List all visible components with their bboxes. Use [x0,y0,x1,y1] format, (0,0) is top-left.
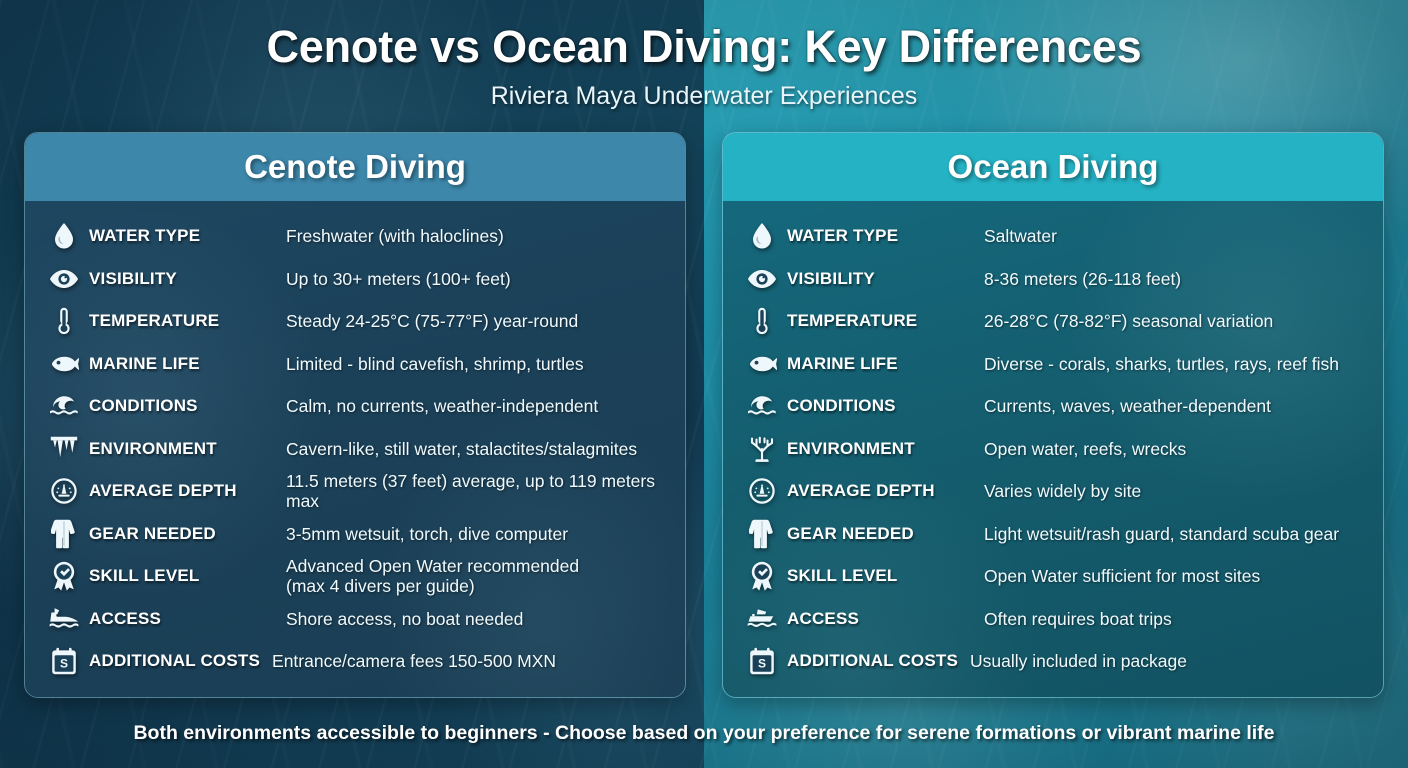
eye-icon [43,269,85,289]
table-row: MARINE LIFEDiverse - corals, sharks, tur… [723,343,1383,386]
svg-text:S: S [758,657,766,671]
row-value: Open water, reefs, wrecks [972,439,1186,459]
row-value: Light wetsuit/rash guard, standard scuba… [972,524,1339,544]
row-value: Calm, no currents, weather-independent [274,396,598,416]
row-value: Steady 24-25°C (75-77°F) year-round [274,311,578,331]
shore-icon [43,607,85,631]
row-value: Diverse - corals, sharks, turtles, rays,… [972,354,1339,374]
table-row: ACCESSShore access, no boat needed [25,598,685,641]
row-value: Entrance/camera fees 150-500 MXN [260,651,556,671]
row-value: Currents, waves, weather-dependent [972,396,1271,416]
stalactite-icon [43,436,85,462]
table-row: SADDITIONAL COSTSEntrance/camera fees 15… [25,640,685,683]
row-label: CONDITIONS [85,396,274,416]
comparison-panels: Cenote Diving WATER TYPEFreshwater (with… [0,132,1408,698]
page-header: Cenote vs Ocean Diving: Key Differences … [0,0,1408,111]
row-value: Usually included in package [958,651,1187,671]
table-row: TEMPERATURESteady 24-25°C (75-77°F) year… [25,300,685,343]
row-label: ENVIRONMENT [85,439,274,459]
row-value: Often requires boat trips [972,609,1172,629]
panel-ocean-rows: WATER TYPESaltwaterVISIBILITY8-36 meters… [723,201,1383,697]
row-label: SKILL LEVEL [783,566,972,586]
fish-icon [741,355,783,373]
wave-icon [43,395,85,417]
table-row: SADDITIONAL COSTSUsually included in pac… [723,640,1383,683]
panel-cenote-rows: WATER TYPEFreshwater (with haloclines)VI… [25,201,685,697]
row-label: CONDITIONS [783,396,972,416]
page-title: Cenote vs Ocean Diving: Key Differences [0,0,1408,73]
table-row: MARINE LIFELimited - blind cavefish, shr… [25,343,685,386]
depth-gauge-icon [43,478,85,504]
panel-cenote-diving: Cenote Diving WATER TYPEFreshwater (with… [24,132,686,698]
row-label: SKILL LEVEL [85,566,274,586]
panel-cenote-header: Cenote Diving [25,133,685,201]
row-value: Advanced Open Water recommended (max 4 d… [274,556,579,596]
table-row: GEAR NEEDEDLight wetsuit/rash guard, sta… [723,513,1383,556]
award-check-icon [43,561,85,591]
table-row: WATER TYPESaltwater [723,215,1383,258]
table-row: GEAR NEEDED3-5mm wetsuit, torch, dive co… [25,513,685,556]
row-value: Shore access, no boat needed [274,609,523,629]
panel-ocean-diving: Ocean Diving WATER TYPESaltwaterVISIBILI… [722,132,1384,698]
water-drop-icon [741,223,783,249]
infographic-root: Cenote vs Ocean Diving: Key Differences … [0,0,1408,768]
panel-ocean-title: Ocean Diving [948,148,1159,186]
boat-icon [741,608,783,630]
wetsuit-icon [741,519,783,549]
row-value: Varies widely by site [972,481,1141,501]
table-row: VISIBILITY8-36 meters (26-118 feet) [723,258,1383,301]
table-row: ENVIRONMENTOpen water, reefs, wrecks [723,428,1383,471]
row-value: 26-28°C (78-82°F) seasonal variation [972,311,1273,331]
table-row: ENVIRONMENTCavern-like, still water, sta… [25,428,685,471]
table-row: ACCESSOften requires boat trips [723,598,1383,641]
money-calendar-icon: S [43,647,85,675]
row-label: ADDITIONAL COSTS [783,651,958,671]
panel-ocean-header: Ocean Diving [723,133,1383,201]
row-label: AVERAGE DEPTH [85,481,274,501]
award-check-icon [741,561,783,591]
row-value: Cavern-like, still water, stalactites/st… [274,439,637,459]
page-subtitle: Riviera Maya Underwater Experiences [0,73,1408,111]
row-label: ENVIRONMENT [783,439,972,459]
table-row: SKILL LEVELAdvanced Open Water recommend… [25,555,685,598]
page-footer: Both environments accessible to beginner… [0,698,1408,768]
wetsuit-icon [43,519,85,549]
row-value: Limited - blind cavefish, shrimp, turtle… [274,354,584,374]
row-label: WATER TYPE [783,226,972,246]
eye-icon [741,269,783,289]
coral-icon [741,435,783,463]
row-label: GEAR NEEDED [783,524,972,544]
row-label: ACCESS [85,609,274,629]
row-value: Up to 30+ meters (100+ feet) [274,269,511,289]
fish-icon [43,355,85,373]
row-label: AVERAGE DEPTH [783,481,972,501]
water-drop-icon [43,223,85,249]
row-value: 8-36 meters (26-118 feet) [972,269,1181,289]
row-label: WATER TYPE [85,226,274,246]
money-calendar-icon: S [741,647,783,675]
row-value: 3-5mm wetsuit, torch, dive computer [274,524,568,544]
row-value: Saltwater [972,226,1057,246]
thermometer-icon [741,307,783,335]
row-label: ACCESS [783,609,972,629]
row-value: Open Water sufficient for most sites [972,566,1260,586]
depth-gauge-icon [741,478,783,504]
table-row: CONDITIONSCalm, no currents, weather-ind… [25,385,685,428]
row-label: MARINE LIFE [85,354,274,374]
row-label: VISIBILITY [783,269,972,289]
row-label: VISIBILITY [85,269,274,289]
table-row: VISIBILITYUp to 30+ meters (100+ feet) [25,258,685,301]
table-row: CONDITIONSCurrents, waves, weather-depen… [723,385,1383,428]
row-value: 11.5 meters (37 feet) average, up to 119… [274,471,671,511]
row-label: GEAR NEEDED [85,524,274,544]
footer-note: Both environments accessible to beginner… [133,722,1274,745]
row-label: MARINE LIFE [783,354,972,374]
svg-text:S: S [60,657,68,671]
table-row: AVERAGE DEPTHVaries widely by site [723,470,1383,513]
thermometer-icon [43,307,85,335]
row-label: ADDITIONAL COSTS [85,651,260,671]
wave-icon [741,395,783,417]
table-row: SKILL LEVELOpen Water sufficient for mos… [723,555,1383,598]
row-value: Freshwater (with haloclines) [274,226,504,246]
row-label: TEMPERATURE [783,311,972,331]
row-label: TEMPERATURE [85,311,274,331]
table-row: WATER TYPEFreshwater (with haloclines) [25,215,685,258]
table-row: AVERAGE DEPTH11.5 meters (37 feet) avera… [25,470,685,513]
panel-cenote-title: Cenote Diving [244,148,466,186]
table-row: TEMPERATURE26-28°C (78-82°F) seasonal va… [723,300,1383,343]
